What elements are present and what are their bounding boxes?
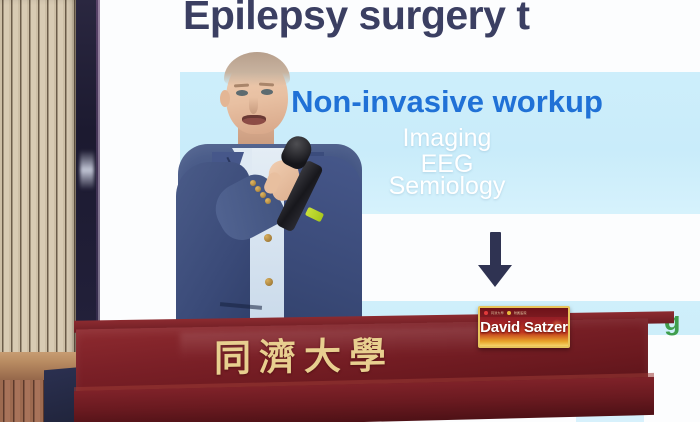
speaker-figure xyxy=(176,52,366,352)
down-arrow-head-icon xyxy=(478,265,512,287)
blazer-button-2 xyxy=(265,278,273,286)
wall-acoustic-panel xyxy=(0,0,76,358)
cuff-button-2 xyxy=(255,186,261,192)
slide-title: Epilepsy surgery t xyxy=(183,0,529,39)
speaker-hair xyxy=(224,52,290,86)
pillar-edge-highlight xyxy=(96,0,100,330)
speaker-nameplate: 同濟大學 附属医院 David Satzer xyxy=(478,306,570,348)
pillar-light-reflection xyxy=(80,150,94,190)
blazer-button-1 xyxy=(264,234,272,242)
speaker-eye-right xyxy=(261,89,273,95)
nameplate-logo-text-left: 同濟大學 xyxy=(491,311,504,315)
nameplate-speaker-name: David Satzer xyxy=(480,319,568,336)
podium-university-inscription: 同濟大學 xyxy=(214,324,454,382)
speaker-nose xyxy=(249,97,258,114)
speaker-ear xyxy=(220,90,230,107)
cuff-button-1 xyxy=(250,180,256,186)
nameplate-logo-icon-right xyxy=(507,311,511,315)
screenshot-stage: Non-invasive workup Imaging EEG Semiolog… xyxy=(0,0,700,422)
cuff-button-4 xyxy=(265,198,271,204)
speaker-mouth xyxy=(242,115,266,125)
speaker-eye-left xyxy=(236,90,248,96)
nameplate-logo-text-right: 附属医院 xyxy=(514,311,527,315)
nameplate-logo-icon-left xyxy=(484,311,488,315)
cuff-button-3 xyxy=(260,192,266,198)
nameplate-logo-strip: 同濟大學 附属医院 xyxy=(480,308,570,317)
down-arrow-icon xyxy=(490,232,501,269)
